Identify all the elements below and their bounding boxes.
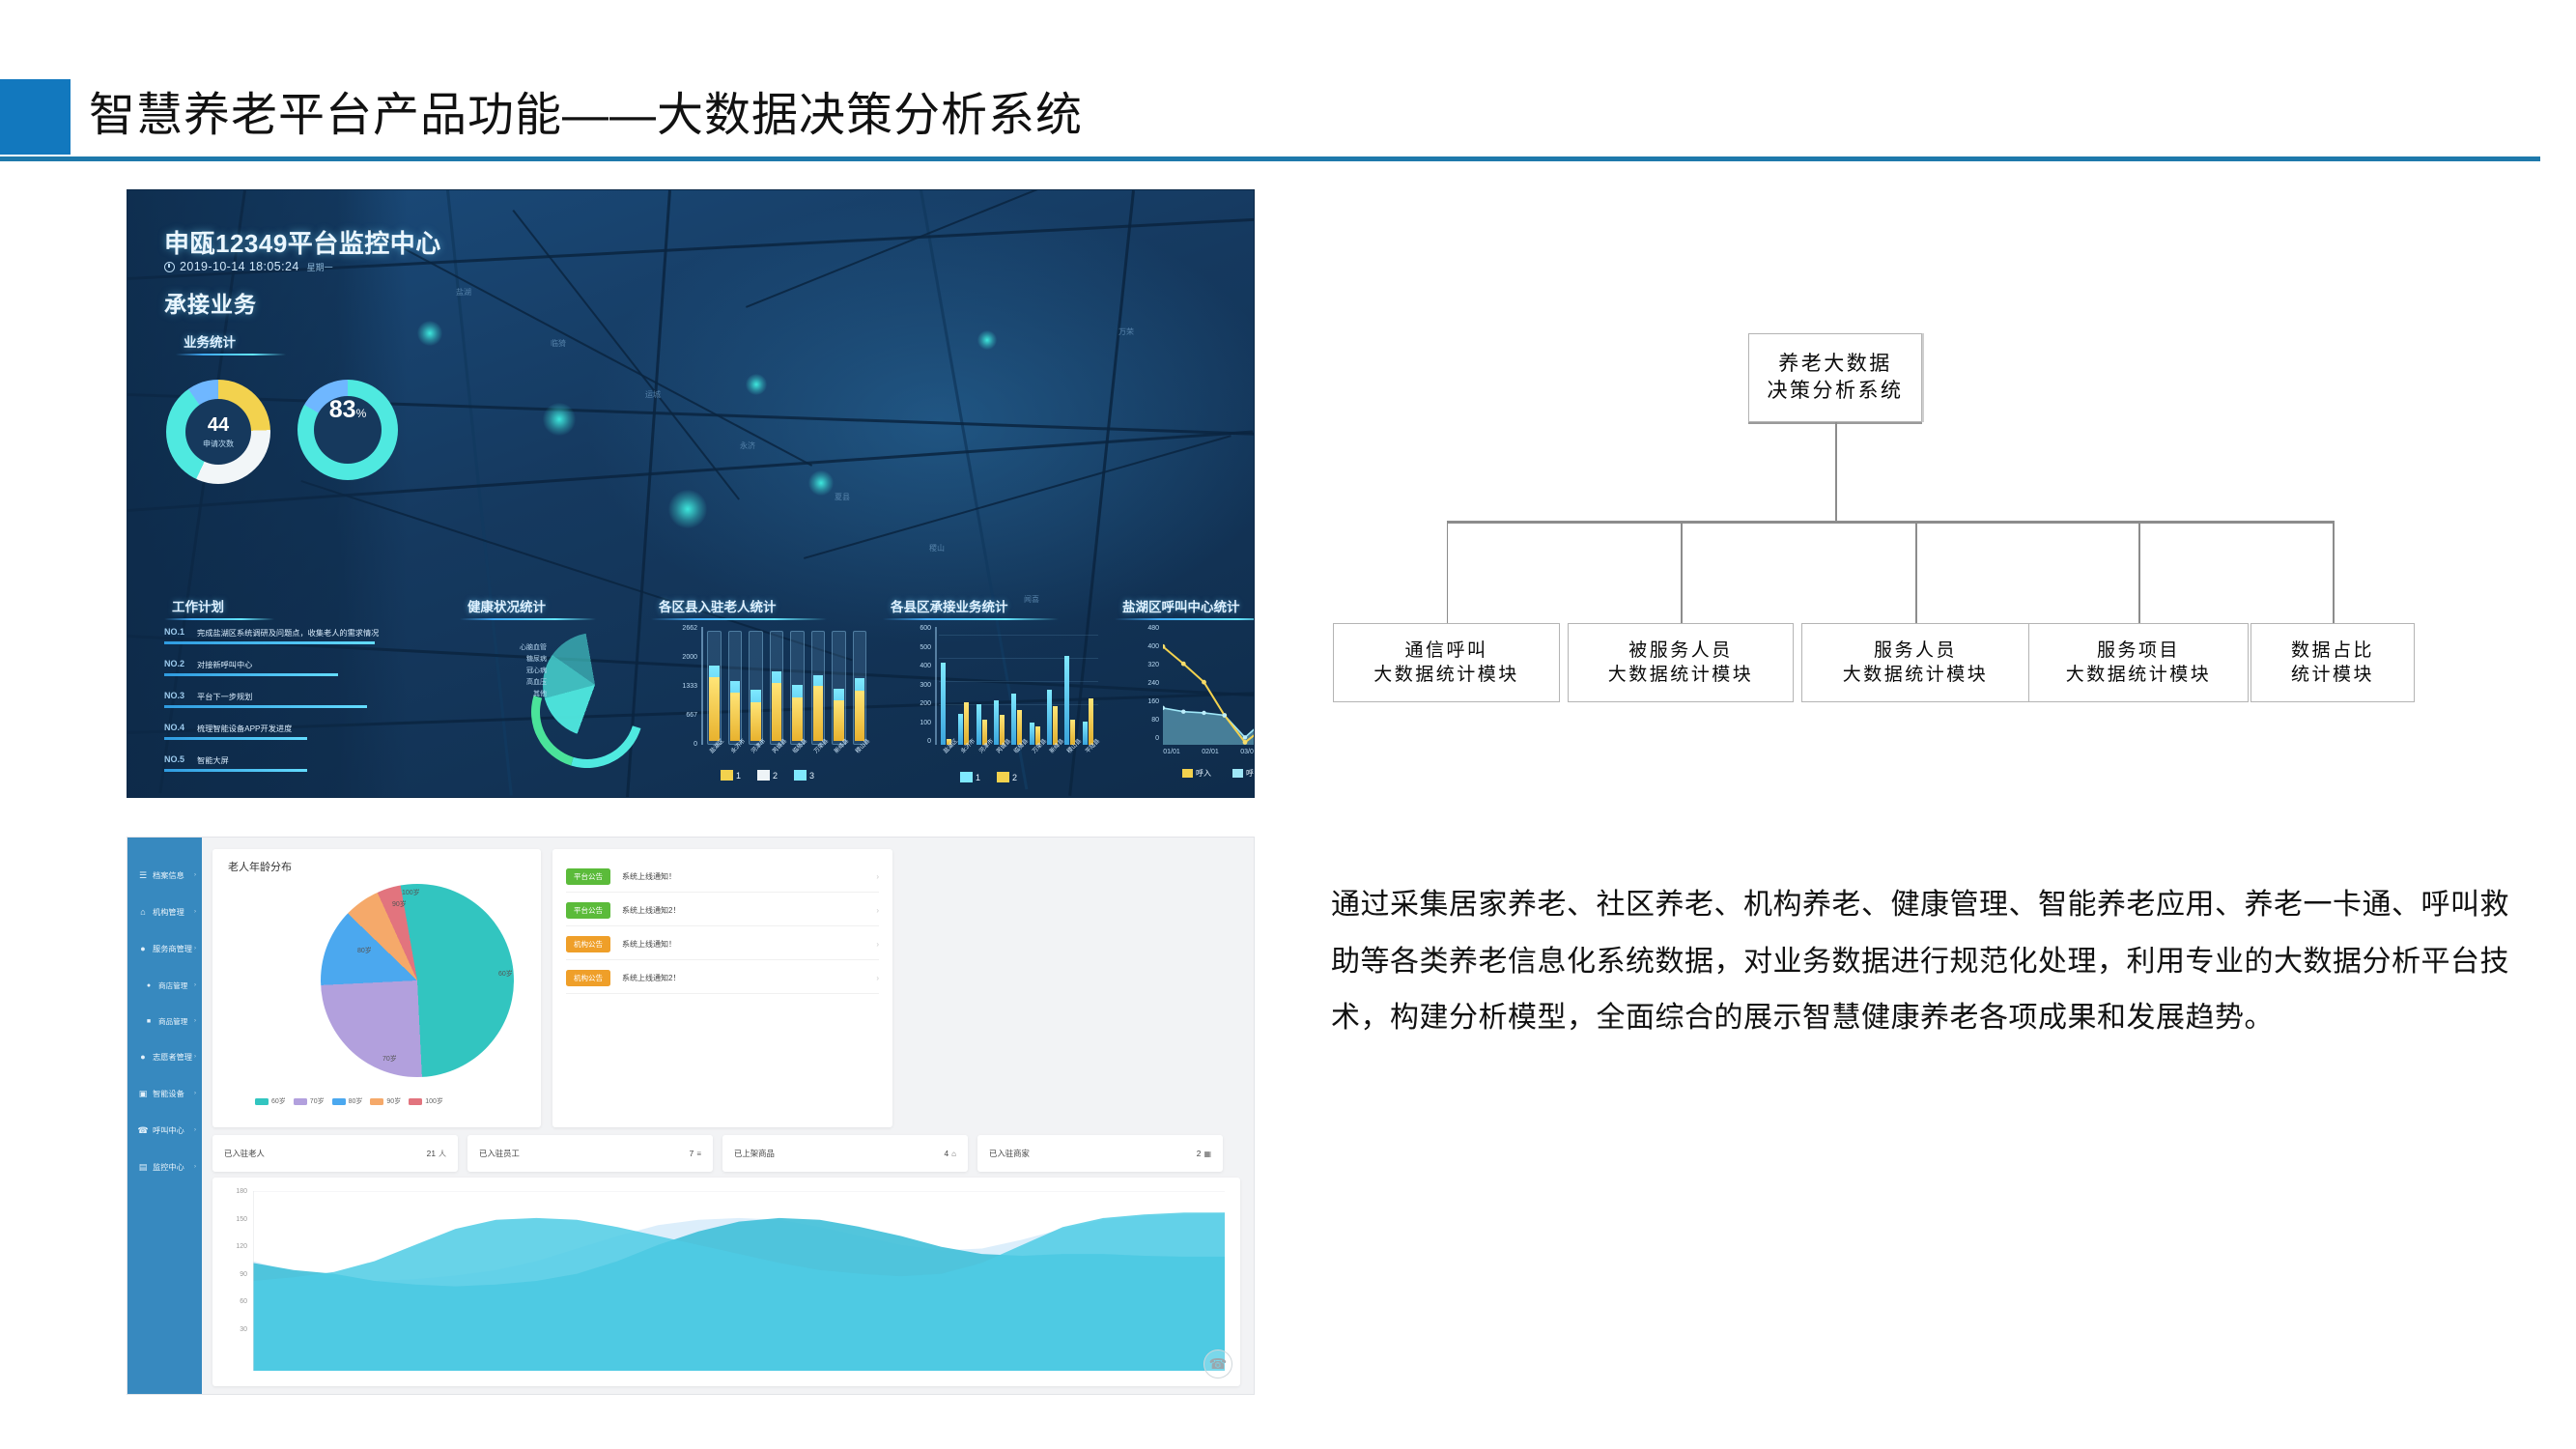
callcenter-point-out — [1243, 735, 1247, 739]
sidebar: ☰ 档案信息 ›⌂ 机构管理 ›● 服务商管理 ›● 商店管理 ›■ 商品管理 … — [127, 838, 202, 1394]
tube-fill-series1 — [834, 700, 844, 741]
child-line1: 通信呼叫 — [1404, 639, 1487, 663]
district-business-chart: 6005004003002001000 盐湖区永济市河津市芮城县临猗县万荣县新绛… — [900, 625, 1108, 784]
sidebar-item-6[interactable]: ● 志愿者管理 › — [127, 1040, 202, 1073]
donut-percent-unit: % — [356, 407, 367, 420]
map-hotspot — [808, 470, 834, 496]
trend-area-card: 180150120906030 ☎ — [212, 1178, 1240, 1386]
notice-row[interactable]: 平台公告 系统上线通知！ › — [566, 861, 879, 893]
sidebar-item-label: 监控中心 — [153, 1161, 184, 1173]
pie-leader-label: 70岁 — [382, 1054, 397, 1064]
callcenter-point-in — [1243, 740, 1248, 745]
yaxis-tick: 120 — [218, 1243, 247, 1250]
device-icon: ▣ — [135, 1089, 151, 1099]
health-rose-chart: 心脑血管糖尿病冠心病高血压其他 — [514, 627, 659, 772]
gridline — [939, 635, 1098, 636]
connector-drop-2 — [1681, 521, 1683, 623]
sidebar-item-label: 商品管理 — [158, 1016, 187, 1027]
legend-swatch — [757, 770, 770, 781]
child-line1: 服务项目 — [2097, 639, 2180, 663]
health-category-label: 冠心病 — [508, 666, 547, 675]
work-plan-bar — [164, 673, 338, 676]
chevron-right-icon: › — [194, 1127, 196, 1133]
map-label: 永济 — [740, 440, 755, 451]
work-plan-text: 平台下一步规划 — [197, 691, 252, 702]
stat-unit-icon: ≡ — [696, 1150, 701, 1158]
stat-value: 4⌂ — [944, 1149, 956, 1158]
stat-card: 已入驻老人 21人 — [212, 1135, 458, 1172]
notice-row[interactable]: 机构公告 系统上线通知！ › — [566, 928, 879, 960]
child-line2: 大数据统计模块 — [1608, 663, 1754, 687]
legend-label: 90岁 — [386, 1096, 401, 1106]
stat-unit-icon: 人 — [439, 1149, 446, 1159]
pie-legend: 60岁70岁80岁90岁100岁 — [255, 1096, 443, 1106]
stat-value: 2▦ — [1197, 1149, 1211, 1158]
bar-series1 — [977, 704, 981, 745]
legend-swatch — [794, 770, 807, 781]
xaxis-tick: 01/01 — [1155, 749, 1188, 755]
donut-chart-percentage: 83 % — [297, 380, 398, 480]
tube-fill-series1 — [709, 677, 720, 741]
sidebar-item-label: 志愿者管理 — [153, 1051, 192, 1063]
callcenter-point-out — [1181, 709, 1185, 713]
connector-drop-3 — [1915, 521, 1917, 623]
dashboard-time-text: 2019-10-14 18:05:24 — [180, 260, 299, 273]
child-line2: 大数据统计模块 — [2066, 663, 2212, 687]
child-line2: 大数据统计模块 — [1843, 663, 1989, 687]
admin-dashboard-screenshot: ☰ 档案信息 ›⌂ 机构管理 ›● 服务商管理 ›● 商店管理 ›■ 商品管理 … — [127, 837, 1255, 1395]
district-elders-bars — [705, 627, 871, 745]
tube-fill-series1 — [855, 691, 865, 741]
map-road — [446, 190, 512, 796]
panel-heading-callcenter: 盐湖区呼叫中心统计 — [1122, 596, 1240, 620]
diagram-child-node-2: 被服务人员 大数据统计模块 — [1568, 623, 1794, 702]
dashboard-title: 申瓯12349平台监控中心 — [164, 224, 441, 260]
work-plan-index: NO.4 — [164, 723, 184, 732]
diagram-root-node: 养老大数据 决策分析系统 — [1748, 333, 1922, 422]
notice-tag: 机构公告 — [566, 936, 610, 952]
bar-series1 — [1064, 656, 1069, 745]
map-hotspot — [543, 403, 576, 436]
callcenter-point-in — [1181, 662, 1186, 667]
chevron-right-icon: › — [876, 940, 879, 949]
map-hotspot — [977, 330, 997, 350]
map-hotspot — [746, 374, 767, 395]
notice-row[interactable]: 机构公告 系统上线通知2！ › — [566, 962, 879, 994]
notice-row[interactable]: 平台公告 系统上线通知2！ › — [566, 895, 879, 926]
legend-label: 呼入 — [1196, 768, 1211, 779]
panel-heading-workplan: 工作计划 — [172, 596, 224, 620]
sidebar-item-5[interactable]: ■ 商品管理 › — [127, 1005, 202, 1037]
connector-drop-4 — [2138, 521, 2140, 623]
yaxis-tick: 30 — [218, 1326, 247, 1333]
legend-item: 2 — [997, 772, 1017, 782]
sidebar-item-4[interactable]: ● 商店管理 › — [127, 969, 202, 1002]
panel-heading-district-elders: 各区县入驻老人统计 — [659, 596, 777, 620]
shop-icon: ● — [141, 982, 156, 989]
donut-percent-value: 83 — [329, 396, 356, 424]
tube-fill-series1 — [813, 686, 824, 741]
yaxis-tick: 600 — [900, 625, 931, 632]
chevron-right-icon: › — [194, 909, 196, 915]
yaxis-tick: 1333 — [666, 683, 697, 690]
gridline — [939, 658, 1098, 659]
bar-series1 — [958, 714, 963, 745]
legend-label: 呼出 — [1246, 768, 1255, 779]
pie-leader-label: 60岁 — [498, 969, 513, 979]
yaxis-tick: 0 — [666, 741, 697, 748]
legend-swatch — [1182, 769, 1193, 778]
chevron-right-icon: › — [876, 872, 879, 881]
child-line2: 大数据统计模块 — [1373, 663, 1519, 687]
work-plan-index: NO.2 — [164, 659, 184, 668]
stat-label: 已入驻商家 — [989, 1148, 1030, 1159]
area-chart-svg — [253, 1191, 1225, 1371]
tube-fill-series1 — [792, 697, 803, 741]
yaxis-tick: 240 — [1130, 680, 1159, 687]
legend-swatch — [332, 1098, 346, 1105]
notice-text: 系统上线通知2！ — [622, 905, 680, 916]
diagram-root-line1: 养老大数据 — [1778, 351, 1892, 378]
yaxis-tick: 60 — [218, 1298, 247, 1305]
yaxis-tick: 200 — [900, 700, 931, 707]
stat-unit-icon: ▦ — [1203, 1150, 1211, 1158]
panel-heading-business: 业务统计 — [184, 331, 236, 355]
pie-legend-item[interactable]: 70岁 — [294, 1096, 325, 1106]
yaxis-tick: 400 — [900, 663, 931, 669]
tube-fill-series1 — [730, 693, 741, 741]
yaxis-tick: 160 — [1130, 698, 1159, 705]
callcenter-point-out — [1223, 713, 1227, 717]
clock-icon — [164, 262, 175, 272]
notice-tag: 机构公告 — [566, 970, 610, 986]
map-road — [746, 189, 1176, 308]
work-plan-bar — [164, 641, 375, 644]
pie-leader-label: 100岁 — [402, 888, 420, 897]
dashboard-weekday: 星期一 — [307, 261, 333, 273]
chevron-right-icon: › — [194, 1091, 196, 1096]
bar-series1 — [1030, 723, 1034, 745]
sidebar-item-2[interactable]: ⌂ 机构管理 › — [127, 895, 202, 928]
bar-series1 — [994, 700, 999, 745]
chevron-right-icon: › — [194, 872, 196, 878]
map-hotspot — [668, 490, 707, 528]
phone-icon: ☎ — [135, 1125, 151, 1136]
child-line2: 统计模块 — [2291, 663, 2374, 687]
xaxis-tick: 03/01 — [1232, 749, 1255, 755]
system-architecture-diagram: 养老大数据 决策分析系统 通信呼叫 大数据统计模块被服务人员 大数据统计模块服务… — [1333, 333, 2569, 700]
stat-label: 已入驻员工 — [479, 1148, 520, 1159]
yaxis-tick: 100 — [900, 720, 931, 726]
pie-legend-item[interactable]: 90岁 — [370, 1096, 401, 1106]
sidebar-item-3[interactable]: ● 服务商管理 › — [127, 932, 202, 965]
notice-text: 系统上线通知！ — [622, 871, 676, 882]
diagram-root-line2: 决策分析系统 — [1768, 378, 1904, 405]
legend-swatch — [721, 770, 733, 781]
panel-heading-health: 健康状况统计 — [467, 596, 546, 620]
notice-tag: 平台公告 — [566, 902, 610, 919]
health-category-label: 糖尿病 — [508, 654, 547, 664]
legend-label: 1 — [736, 771, 741, 781]
legend-swatch — [1232, 769, 1243, 778]
legend-swatch — [997, 772, 1009, 782]
pie-slices — [321, 884, 514, 1077]
stat-card: 已入驻员工 7≡ — [467, 1135, 713, 1172]
notice-tag: 平台公告 — [566, 868, 610, 885]
connector-drop-1 — [1447, 521, 1449, 623]
stat-value: 7≡ — [690, 1149, 701, 1158]
chevron-right-icon: › — [194, 1054, 196, 1060]
donut-label: 申请次数 — [203, 439, 234, 449]
sidebar-item-label: 智能设备 — [153, 1088, 184, 1099]
legend-item: 1 — [721, 770, 741, 781]
district-business-bars — [939, 627, 1098, 745]
yaxis-tick: 400 — [1130, 643, 1159, 650]
legend-item: 呼入 — [1182, 768, 1211, 779]
stat-label: 已上架商品 — [734, 1148, 775, 1159]
bar-series1 — [1011, 694, 1016, 745]
yaxis-tick: 300 — [900, 682, 931, 689]
age-chart-title: 老人年龄分布 — [228, 859, 292, 874]
sidebar-item-8[interactable]: ☎ 呼叫中心 › — [127, 1114, 202, 1147]
stat-label: 已入驻老人 — [224, 1148, 265, 1159]
work-plan-index: NO.5 — [164, 754, 184, 764]
work-plan-index: NO.3 — [164, 691, 184, 700]
child-line1: 数据占比 — [2291, 639, 2374, 663]
title-accent-square — [0, 79, 71, 155]
notices-card: 平台公告 系统上线通知！ ›平台公告 系统上线通知2！ ›机构公告 系统上线通知… — [552, 849, 892, 1127]
pie-leader-label: 90岁 — [392, 899, 407, 909]
connector-drop-5 — [2333, 521, 2335, 623]
work-plan-bar — [164, 769, 307, 772]
legend-label: 70岁 — [310, 1096, 325, 1106]
map-label: 稷山 — [929, 543, 945, 554]
donut-chart-applications: 44 申请次数 — [166, 380, 270, 484]
user-icon: ● — [135, 944, 151, 953]
health-category-label: 高血压 — [508, 677, 547, 687]
district-elders-chart: 2662200013336670 盐湖区永济市河津市芮城县临猗县万荣县新绛县稷山… — [668, 625, 871, 784]
yaxis-tick: 500 — [900, 644, 931, 651]
child-line1: 被服务人员 — [1628, 639, 1733, 663]
xaxis-tick: 02/01 — [1194, 749, 1227, 755]
monitoring-dashboard-screenshot: 盐湖临猗运城永济夏县稷山闻喜万荣 申瓯12349平台监控中心 2019-10-1… — [127, 189, 1255, 798]
chevron-right-icon: › — [876, 906, 879, 915]
call-fab-button[interactable]: ☎ — [1203, 1350, 1232, 1378]
map-label: 夏县 — [835, 492, 850, 502]
sidebar-item-9[interactable]: ▤ 监控中心 › — [127, 1151, 202, 1183]
gridline — [939, 681, 1098, 682]
yaxis-tick: 320 — [1130, 662, 1159, 668]
map-label: 闻喜 — [1024, 594, 1039, 605]
panel-heading-district-business: 各县区承接业务统计 — [891, 596, 1008, 620]
building-icon: ⌂ — [135, 907, 151, 917]
legend-label: 2 — [773, 771, 778, 781]
yaxis-tick: 90 — [218, 1271, 247, 1278]
pie-legend-item[interactable]: 80岁 — [332, 1096, 363, 1106]
chevron-right-icon: › — [194, 1018, 196, 1024]
callcenter-point-in — [1202, 680, 1206, 685]
yaxis-tick: 480 — [1130, 625, 1159, 632]
yaxis-tick: 0 — [1130, 735, 1159, 742]
work-plan-text: 梳理智能设备APP开发进度 — [197, 723, 292, 734]
diagram-child-node-4: 服务项目 大数据统计模块 — [2028, 623, 2249, 702]
legend-item: 3 — [794, 770, 814, 781]
yaxis-tick: 667 — [666, 712, 697, 719]
yaxis-tick: 2662 — [666, 625, 697, 632]
legend-swatch — [960, 772, 973, 782]
legend-item: 2 — [757, 770, 778, 781]
age-pie-chart — [321, 884, 528, 1077]
slide-header: 智慧养老平台产品功能——大数据决策分析系统 — [0, 75, 2540, 162]
bar-series1 — [1083, 722, 1088, 745]
map-hotspot — [417, 321, 442, 346]
diagram-child-node-3: 服务人员 大数据统计模块 — [1801, 623, 2029, 702]
child-line1: 服务人员 — [1874, 639, 1957, 663]
tube-fill-series1 — [750, 702, 761, 741]
legend-swatch — [255, 1098, 269, 1105]
chevron-right-icon: › — [194, 946, 196, 952]
connector-root-stem — [1835, 422, 1837, 521]
pie-legend-item[interactable]: 60岁 — [255, 1096, 286, 1106]
map-label: 万荣 — [1118, 327, 1134, 337]
map-road — [804, 435, 1231, 559]
work-plan-text: 智能大屏 — [197, 754, 229, 766]
yaxis-tick: 0 — [900, 738, 931, 745]
volunteer-icon: ● — [135, 1052, 151, 1062]
health-category-label: 心脑血管 — [508, 642, 547, 652]
legend-label: 2 — [1012, 773, 1017, 782]
sidebar-item-label: 机构管理 — [153, 906, 184, 918]
legend-label: 1 — [976, 773, 980, 782]
age-distribution-card: 老人年龄分布 100岁90岁80岁70岁60岁 60岁70岁80岁90岁100岁 — [212, 849, 541, 1127]
pie-leader-label: 80岁 — [357, 946, 372, 955]
health-category-label: 其他 — [508, 689, 547, 698]
page-title: 智慧养老平台产品功能——大数据决策分析系统 — [89, 75, 1083, 156]
legend-swatch — [409, 1098, 422, 1105]
donut-value: 44 — [208, 414, 229, 437]
menu-icon: ☰ — [135, 870, 151, 881]
legend-swatch — [294, 1098, 307, 1105]
yaxis-tick: 2000 — [666, 654, 697, 661]
description-paragraph: 通过采集居家养老、社区养老、机构养老、健康管理、智能养老应用、养老一卡通、呼叫救… — [1331, 877, 2534, 1047]
work-plan-index: NO.1 — [164, 627, 184, 637]
monitor-icon: ▤ — [135, 1162, 151, 1173]
gridline — [939, 704, 1098, 705]
sidebar-item-7[interactable]: ▣ 智能设备 › — [127, 1077, 202, 1110]
yaxis-tick: 80 — [1130, 717, 1159, 724]
sidebar-item-label: 商店管理 — [158, 980, 187, 991]
stat-unit-icon: ⌂ — [951, 1150, 956, 1158]
callcenter-chart: 480400320240160800 01/0102/0103/0104/010… — [1132, 625, 1255, 784]
pie-legend-item[interactable]: 100岁 — [409, 1096, 443, 1106]
diagram-child-node-5: 数据占比 统计模块 — [2250, 623, 2415, 702]
cart-icon: ■ — [141, 1018, 156, 1025]
connector-bus — [1447, 521, 2334, 524]
map-road — [368, 229, 812, 467]
stat-card: 已入驻商家 2▦ — [977, 1135, 1223, 1172]
work-plan-text: 对接新呼叫中心 — [197, 659, 252, 670]
stat-value: 21人 — [427, 1149, 446, 1159]
map-label: 运城 — [645, 389, 661, 400]
tube-fill-series1 — [772, 683, 782, 741]
legend-swatch — [370, 1098, 383, 1105]
yaxis-tick: 180 — [218, 1188, 247, 1195]
title-underline — [0, 156, 2540, 161]
legend-label: 3 — [809, 771, 814, 781]
work-plan-bar — [164, 737, 307, 740]
callcenter-line-svg — [1163, 627, 1255, 745]
bar-series1 — [1047, 690, 1052, 745]
sidebar-item-label: 档案信息 — [153, 869, 184, 881]
notice-text: 系统上线通知！ — [622, 939, 676, 950]
map-label: 临猗 — [551, 338, 566, 349]
chevron-right-icon: › — [194, 982, 196, 988]
legend-label: 80岁 — [349, 1096, 363, 1106]
yaxis-tick: 150 — [218, 1216, 247, 1223]
diagram-child-node-1: 通信呼叫 大数据统计模块 — [1333, 623, 1560, 702]
map-label: 盐湖 — [456, 287, 471, 298]
legend-label: 60岁 — [271, 1096, 286, 1106]
sidebar-item-label: 呼叫中心 — [153, 1124, 184, 1136]
legend-label: 100岁 — [425, 1096, 443, 1106]
work-plan-text: 完成盐湖区系统调研及问题点，收集老人的需求情况 — [197, 627, 379, 639]
work-plan-bar — [164, 705, 367, 708]
sidebar-item-label: 服务商管理 — [153, 943, 192, 954]
dashboard-subtitle: 承接业务 — [164, 286, 257, 319]
legend-item: 1 — [960, 772, 980, 782]
notice-text: 系统上线通知2！ — [622, 973, 680, 983]
chevron-right-icon: › — [876, 974, 879, 982]
chevron-right-icon: › — [194, 1164, 196, 1170]
stat-card: 已上架商品 4⌂ — [722, 1135, 968, 1172]
legend-item: 呼出 — [1232, 768, 1255, 779]
callcenter-point-out — [1202, 711, 1205, 715]
dashboard-datetime: 2019-10-14 18:05:24 星期一 — [164, 260, 333, 273]
sidebar-item-1[interactable]: ☰ 档案信息 › — [127, 859, 202, 892]
bar-series1 — [941, 663, 946, 745]
